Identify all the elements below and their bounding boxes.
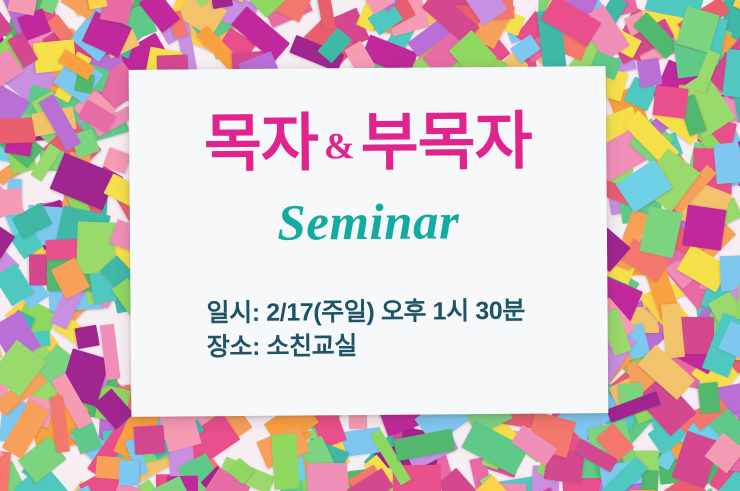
ampersand-glyph: & bbox=[318, 126, 361, 167]
confetti-piece bbox=[713, 140, 740, 184]
confetti-piece bbox=[118, 460, 139, 485]
confetti-piece bbox=[271, 434, 299, 490]
confetti-piece bbox=[682, 204, 727, 250]
confetti-piece bbox=[637, 58, 663, 88]
white-card: 목자&부목자 Seminar 일시: 2/17(주일) 오후 1시 30분 장소… bbox=[129, 66, 609, 417]
subtitle-seminar: Seminar bbox=[130, 196, 607, 251]
confetti-piece bbox=[697, 382, 720, 414]
title-main-prefix: 목자 bbox=[204, 108, 318, 179]
title-main-suffix: 부목자 bbox=[360, 107, 531, 178]
page-title: 목자&부목자 bbox=[129, 110, 606, 177]
detail-line-location: 장소: 소친교실 bbox=[207, 328, 526, 364]
detail-line-datetime: 일시: 2/17(주일) 오후 1시 30분 bbox=[206, 295, 525, 331]
confetti-piece bbox=[720, 255, 740, 291]
poster-image: 목자&부목자 Seminar 일시: 2/17(주일) 오후 1시 30분 장소… bbox=[0, 0, 740, 491]
confetti-piece bbox=[653, 85, 690, 119]
confetti-piece bbox=[75, 325, 100, 349]
event-details: 일시: 2/17(주일) 오후 1시 30분 장소: 소친교실 bbox=[206, 295, 525, 364]
card-content: 목자&부목자 Seminar 일시: 2/17(주일) 오후 1시 30분 장소… bbox=[129, 66, 609, 417]
confetti-piece bbox=[134, 425, 166, 455]
confetti-piece bbox=[0, 117, 35, 144]
confetti-piece bbox=[307, 463, 347, 491]
confetti-piece bbox=[0, 187, 24, 216]
